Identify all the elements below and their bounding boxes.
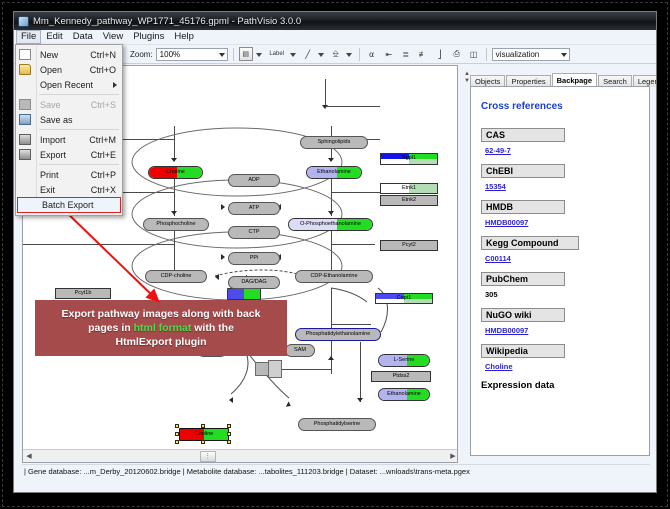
menu-item-save-as-label: Save as — [40, 115, 73, 125]
menu-item-print[interactable]: Print Ctrl+P — [16, 167, 122, 182]
pathway-node-etnk1[interactable]: Etnk1 — [380, 183, 438, 194]
xref-value-hmdb[interactable]: HMDB00097 — [485, 218, 641, 227]
xref-value-pubchem: 305 — [485, 290, 641, 299]
xref-value-chebi[interactable]: 15354 — [485, 182, 641, 191]
toolbar-separator — [233, 48, 234, 61]
menu-item-batch-export[interactable]: Batch Export — [17, 197, 121, 213]
menu-item-save-label: Save — [40, 100, 61, 110]
pathway-node-sphingolipids[interactable]: Sphingolipids — [300, 136, 368, 149]
pathway-node-dag[interactable]: DAG/DAG — [228, 276, 280, 289]
datanode-dropdown-icon[interactable] — [256, 53, 262, 57]
xref-header-pubchem: PubChem — [481, 272, 565, 286]
pathway-anchor-box — [268, 360, 282, 378]
chevron-down-icon — [219, 53, 225, 57]
edge-ptdss2 — [331, 324, 371, 325]
xref-link-cas[interactable]: 62-49-7 — [485, 146, 511, 155]
xref-header-cas: CAS — [481, 128, 565, 142]
backpage-title: Cross references — [481, 101, 641, 112]
open-folder-icon — [19, 64, 31, 75]
edge-anchor — [282, 369, 331, 370]
scroll-right-icon[interactable]: ▶ — [447, 451, 458, 462]
pathway-anchor-box-2 — [255, 362, 269, 376]
print-icon[interactable]: ⎙ — [450, 47, 464, 61]
pathway-node-atp[interactable]: ATP — [228, 202, 280, 215]
menu-item-exit-label: Exit — [40, 185, 55, 195]
callout-highlight: html format — [134, 322, 192, 334]
pathway-node-ethanolamine-top[interactable]: Ethanolamine — [306, 166, 362, 179]
stack-rows-icon[interactable]: ≣ — [399, 47, 413, 61]
arrow-ps — [357, 398, 363, 402]
pathway-node-sam[interactable]: SAM — [285, 344, 315, 357]
zoom-combo[interactable]: 100% — [156, 48, 228, 61]
xref-link-nugo[interactable]: HMDB00097 — [485, 326, 528, 335]
pathway-node-cdp-ethanolamine[interactable]: CDP-Ethanolamine — [295, 270, 373, 283]
selection-handle-sw[interactable] — [175, 440, 179, 444]
pathway-node-pcyt1b[interactable]: Pcyt1b — [55, 288, 111, 299]
menu-item-new-label: New — [40, 50, 58, 60]
xref-header-chebi: ChEBI — [481, 164, 565, 178]
pathvisio-icon — [18, 16, 29, 27]
pathvisio-application-window: Mm_Kennedy_pathway_WP1771_45176.gpml - P… — [13, 11, 657, 493]
pathway-node-etnk2[interactable]: Etnk2 — [380, 195, 438, 206]
callout-line-2-post: with the — [191, 322, 234, 334]
backpage-content: Cross references CAS 62-49-7 ChEBI 15354… — [470, 86, 650, 456]
line-tool-icon[interactable]: ╱ — [301, 47, 315, 61]
screenshot-frame: Mm_Kennedy_pathway_WP1771_45176.gpml - P… — [0, 0, 670, 509]
menu-item-open-recent[interactable]: Open Recent — [16, 77, 122, 92]
pathway-node-pcyt2[interactable]: Pcyt2 — [380, 240, 438, 251]
menu-data[interactable]: Data — [68, 30, 98, 44]
pathway-node-phosphatidylserine[interactable]: Phosphatidylserine — [298, 418, 376, 431]
xref-header-kegg: Kegg Compound — [481, 236, 579, 250]
menu-item-print-shortcut: Ctrl+P — [91, 170, 116, 180]
xref-header-nugo: NuGO wiki — [481, 308, 565, 322]
side-panel: ▲▼ Objects Properties Backpage Search Le… — [464, 65, 650, 463]
menu-item-import-shortcut: Ctrl+M — [89, 135, 116, 145]
menu-separator-2 — [39, 129, 119, 130]
menu-item-export[interactable]: Export Ctrl+E — [16, 147, 122, 162]
annotation-callout: Export pathway images along with back pa… — [35, 300, 287, 356]
expression-data-header: Expression data — [481, 380, 641, 391]
zoom-value: 100% — [160, 50, 180, 59]
distribute-columns-icon[interactable]: ⎦ — [433, 47, 447, 61]
zoom-label: Zoom: — [130, 50, 153, 59]
menu-item-import-label: Import — [40, 135, 66, 145]
menu-separator-3 — [39, 164, 119, 165]
callout-line-1: Export pathway images along with back — [62, 308, 261, 321]
menu-item-new[interactable]: New Ctrl+N — [16, 47, 122, 62]
pathway-node-adp[interactable]: ADP — [228, 174, 280, 187]
selection-handle-nw[interactable] — [175, 424, 179, 428]
label-dropdown-icon[interactable] — [290, 53, 296, 57]
align-left-icon[interactable]: ⇤ — [382, 47, 396, 61]
callout-line-2: pages in html format with the — [88, 322, 234, 335]
pathway-node-ptdss2[interactable]: Ptdss2 — [371, 371, 431, 382]
arrow-ps-left — [286, 401, 292, 408]
menu-item-export-label: Export — [40, 150, 66, 160]
xref-link-kegg[interactable]: C00114 — [485, 254, 511, 263]
pathway-node-cept1[interactable]: Cept1 — [375, 293, 433, 304]
arrow-choline-bottom — [229, 397, 233, 403]
menu-item-open-shortcut: Ctrl+O — [90, 65, 116, 75]
edge-sgpl1 — [325, 106, 380, 107]
edge-sphingolipids-ethanolamine — [325, 79, 326, 107]
pathway-node-choline-top[interactable]: Choline — [148, 166, 203, 179]
menu-item-exit[interactable]: Exit Ctrl+X — [16, 182, 122, 197]
xref-link-chebi[interactable]: 15354 — [485, 182, 506, 191]
menu-item-exit-shortcut: Ctrl+X — [91, 185, 116, 195]
callout-line-3: HtmlExport plugin — [116, 336, 207, 349]
menu-item-open[interactable]: Open Ctrl+O — [16, 62, 122, 77]
save-disk-icon — [19, 99, 31, 110]
new-document-icon — [19, 49, 31, 60]
side-panel-tabs[interactable]: Objects Properties Backpage Search Legen… — [470, 73, 650, 87]
xref-link-hmdb[interactable]: HMDB00097 — [485, 218, 528, 227]
scrollbar-track[interactable]: ⋮ — [35, 451, 447, 462]
menu-bar[interactable]: File Edit Data View Plugins Help — [14, 30, 657, 45]
import-icon — [19, 134, 31, 145]
xref-value-cas[interactable]: 62-49-7 — [485, 146, 641, 155]
xref-value-nugo[interactable]: HMDB00097 — [485, 326, 641, 335]
selection-handle-w[interactable] — [175, 432, 179, 436]
pathway-node-ethanolamine-right[interactable]: Ethanolamine — [378, 388, 430, 401]
menu-file[interactable]: File — [16, 30, 41, 44]
menu-item-open-recent-label: Open Recent — [40, 80, 93, 90]
line-dropdown-icon[interactable] — [318, 53, 324, 57]
chevron-down-icon-2 — [561, 53, 567, 57]
pathway-node-ctp[interactable]: CTP — [228, 226, 280, 239]
scroll-left-icon[interactable]: ◀ — [23, 451, 35, 462]
pathway-node-phosphocholine[interactable]: Phosphocholine — [143, 218, 209, 231]
pathway-node-ppi[interactable]: PPi — [228, 252, 280, 265]
menu-item-export-shortcut: Ctrl+E — [91, 150, 116, 160]
toggle-sidebar-icon[interactable]: ◫ — [467, 47, 481, 61]
menu-plugins[interactable]: Plugins — [128, 30, 169, 44]
pathway-node-l-serine[interactable]: L-Serine — [378, 354, 430, 367]
xref-value-kegg[interactable]: C00114 — [485, 254, 641, 263]
visualization-value: visualization — [496, 50, 540, 59]
menu-item-print-label: Print — [40, 170, 59, 180]
pathway-node-phosphatidylethanolamine[interactable]: Phosphatidylethanolamine — [295, 328, 381, 341]
menu-help[interactable]: Help — [169, 30, 199, 44]
menu-item-save-as[interactable]: Save as — [16, 112, 122, 127]
xref-value-wikipedia[interactable]: Choline — [485, 362, 641, 371]
selection-handle-se[interactable] — [227, 440, 231, 444]
xref-link-wikipedia[interactable]: Choline — [485, 362, 513, 371]
tab-backpage[interactable]: Backpage — [552, 73, 597, 87]
selection-handle-s[interactable] — [201, 440, 205, 444]
chevron-right-icon — [113, 82, 117, 88]
toolbar-separator-2 — [359, 48, 360, 61]
menu-view[interactable]: View — [98, 30, 128, 44]
file-dropdown-menu[interactable]: New Ctrl+N Open Ctrl+O Open Recent Save … — [15, 44, 123, 216]
selection-handle-n[interactable] — [201, 424, 205, 428]
menu-separator-1 — [39, 94, 119, 95]
selection-handle-e[interactable] — [227, 432, 231, 436]
canvas-horizontal-scrollbar[interactable]: ◀ ⋮ ▶ — [23, 449, 458, 462]
arrow-pe-up — [328, 356, 334, 360]
pathway-node-sgpl1[interactable]: Sgpl1 — [380, 153, 438, 165]
status-bar-text: | Gene database: ...m_Derby_20120602.bri… — [24, 467, 470, 476]
datanode-tool-icon[interactable]: ▤ — [239, 47, 253, 61]
label-tool-icon[interactable]: Label — [267, 47, 287, 61]
edge-pe-ps — [360, 342, 361, 402]
export-icon — [19, 149, 31, 160]
menu-item-save: Save Ctrl+S — [16, 97, 122, 112]
callout-line-2-pre: pages in — [88, 322, 134, 334]
interaction-tool-icon[interactable]: ⎒ — [329, 47, 343, 61]
visualization-combo[interactable]: visualization — [492, 48, 570, 61]
title-bar: Mm_Kennedy_pathway_WP1771_45176.gpml - P… — [14, 12, 657, 30]
save-as-icon — [19, 114, 31, 125]
xref-header-hmdb: HMDB — [481, 200, 565, 214]
stack-center-icon[interactable]: ≢ — [416, 47, 430, 61]
scrollbar-thumb[interactable]: ⋮ — [200, 451, 216, 462]
interaction-dropdown-icon[interactable] — [346, 53, 352, 57]
menu-item-new-shortcut: Ctrl+N — [90, 50, 116, 60]
align-top-icon[interactable]: ⍺ — [365, 47, 379, 61]
menu-item-batch-export-label: Batch Export — [42, 200, 94, 210]
menu-item-save-shortcut: Ctrl+S — [91, 100, 116, 110]
xref-header-wikipedia: Wikipedia — [481, 344, 565, 358]
selection-handle-ne[interactable] — [227, 424, 231, 428]
pathway-node-small-gene[interactable] — [227, 288, 261, 300]
window-title: Mm_Kennedy_pathway_WP1771_45176.gpml - P… — [33, 16, 301, 27]
pathway-node-cdp-choline[interactable]: CDP-choline — [145, 270, 207, 283]
menu-item-open-label: Open — [40, 65, 62, 75]
menu-item-import[interactable]: Import Ctrl+M — [16, 132, 122, 147]
menu-edit[interactable]: Edit — [41, 30, 67, 44]
toolbar-separator-3 — [486, 48, 487, 61]
arrow-pc-from-pe — [215, 274, 219, 280]
pathway-node-o-phosphoethanolamine[interactable]: O-Phosphoethanolamine — [288, 218, 373, 231]
status-bar: | Gene database: ...m_Derby_20120602.bri… — [22, 464, 650, 478]
